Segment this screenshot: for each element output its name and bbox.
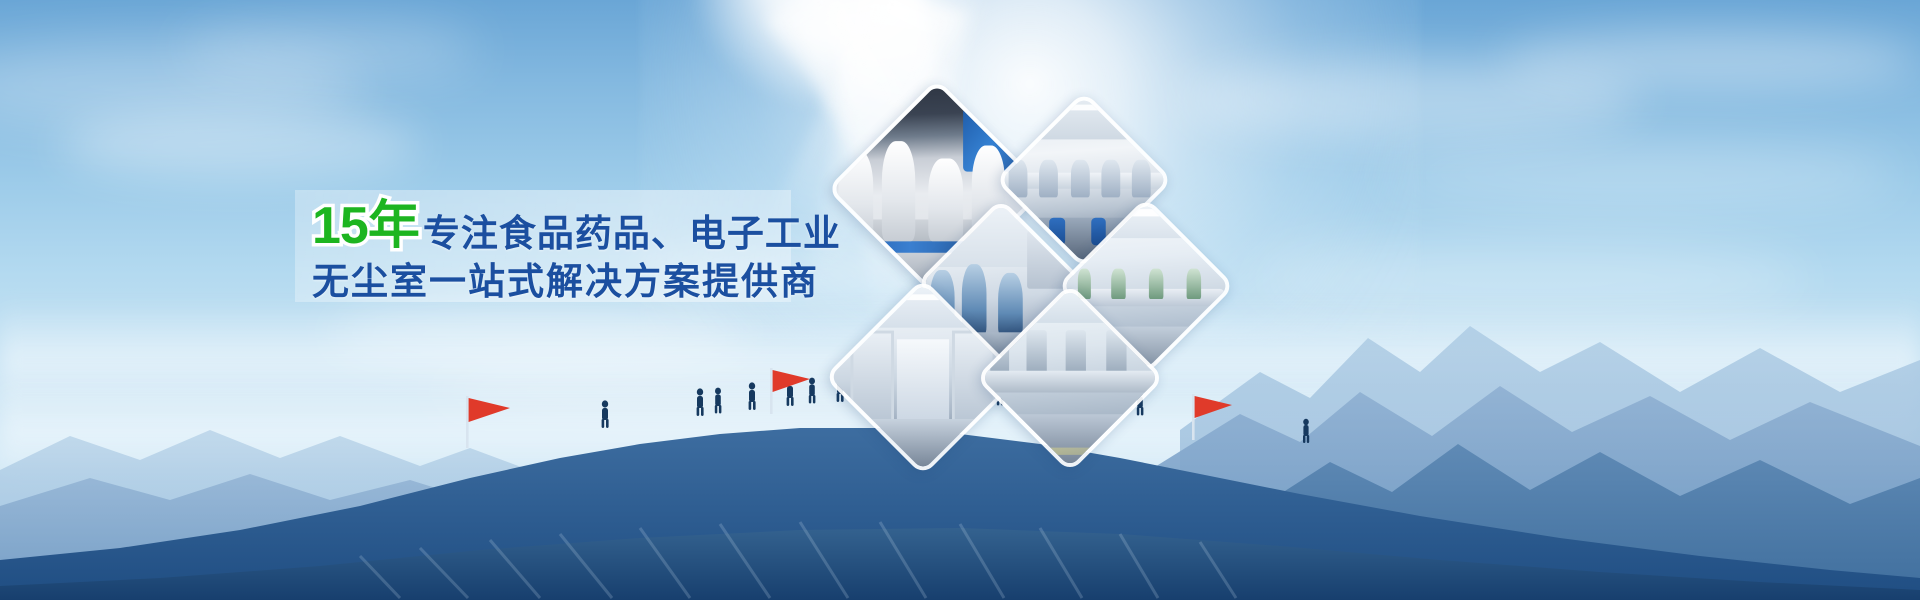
hero-banner: 15年 15年 专注食品药品、电子工业 无尘室一站式解决方案提供商 bbox=[0, 0, 1920, 600]
summit-flag bbox=[466, 396, 510, 448]
years-number: 15年 bbox=[312, 197, 419, 255]
slogan-line-1-rest: 专注食品药品、电子工业 bbox=[423, 215, 841, 252]
cleanroom-photo-collage bbox=[845, 95, 1275, 465]
slogan-line-2-text: 无尘室一站式解决方案提供商 bbox=[312, 263, 819, 300]
climber-silhouette bbox=[697, 388, 704, 416]
slogan-block: 15年 15年 专注食品药品、电子工业 无尘室一站式解决方案提供商 bbox=[312, 196, 832, 306]
slogan-line-1: 15年 15年 专注食品药品、电子工业 bbox=[312, 196, 832, 252]
slogan-line-2: 无尘室一站式解决方案提供商 bbox=[312, 256, 832, 306]
climber-silhouette bbox=[602, 400, 609, 428]
years-badge: 15年 15年 bbox=[312, 200, 419, 252]
climber-silhouette bbox=[715, 388, 722, 414]
climber-silhouette bbox=[749, 382, 756, 410]
climber-silhouette bbox=[809, 378, 816, 404]
